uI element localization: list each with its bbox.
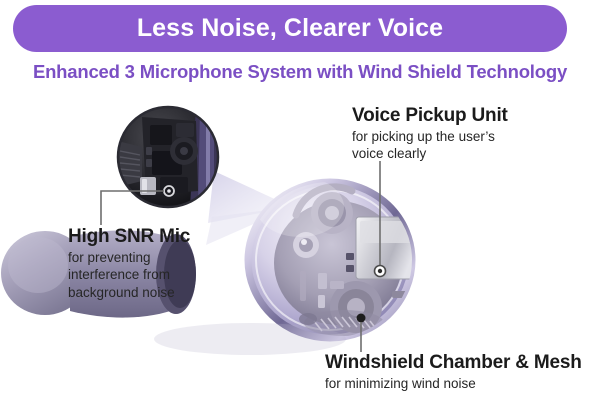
callout-windshield-chamber: Windshield Chamber & Mesh for minimizing… xyxy=(325,352,582,392)
callout-high-snr-mic-description-line3: background noise xyxy=(68,284,190,301)
callout-windshield-chamber-description: for minimizing wind noise xyxy=(325,375,582,392)
callout-voice-pickup-description: for picking up the user’s voice clearly xyxy=(352,128,508,162)
callout-high-snr-mic-description-line2: interference from xyxy=(68,266,190,283)
page-title: Less Noise, Clearer Voice xyxy=(137,16,443,41)
callout-voice-pickup-description-line1: for picking up the user’s xyxy=(352,128,508,145)
callout-voice-pickup-heading: Voice Pickup Unit xyxy=(352,105,508,126)
callout-high-snr-mic: High SNR Mic for preventing interference… xyxy=(68,226,190,301)
callout-high-snr-mic-description: for preventing interference from backgro… xyxy=(68,249,190,300)
callout-high-snr-mic-heading: High SNR Mic xyxy=(68,226,190,247)
callout-windshield-chamber-heading: Windshield Chamber & Mesh xyxy=(325,352,582,373)
callout-high-snr-mic-description-line1: for preventing xyxy=(68,249,190,266)
title-banner: Less Noise, Clearer Voice xyxy=(13,5,567,52)
callout-voice-pickup-description-line2: voice clearly xyxy=(352,145,508,162)
callout-voice-pickup: Voice Pickup Unit for picking up the use… xyxy=(352,105,508,163)
earbud-graphic xyxy=(1,177,418,355)
callout-windshield-chamber-description-line1: for minimizing wind noise xyxy=(325,375,582,392)
page-subtitle: Enhanced 3 Microphone System with Wind S… xyxy=(0,61,600,83)
infographic-root: Less Noise, Clearer Voice Enhanced 3 Mic… xyxy=(0,0,600,400)
